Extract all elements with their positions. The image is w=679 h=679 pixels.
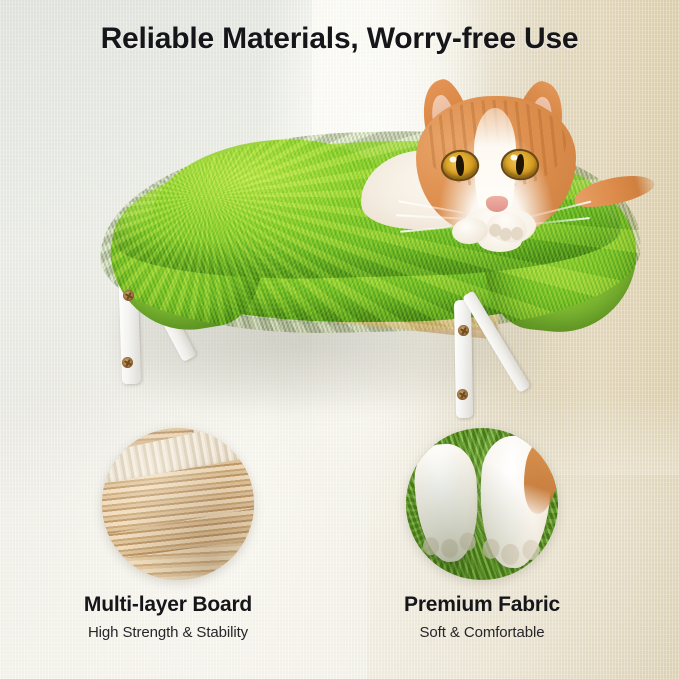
headline: Reliable Materials, Worry-free Use xyxy=(0,22,679,56)
product-feature-image: Reliable Materials, Worry-free Use xyxy=(0,0,679,679)
caption-title-fabric: Premium Fabric xyxy=(332,592,632,618)
caption-title-board: Multi-layer Board xyxy=(18,592,318,618)
caption-subtitle-board: High Strength & Stability xyxy=(18,624,318,641)
plywood-shading xyxy=(102,428,254,580)
fabric-closeup-shading xyxy=(406,428,558,580)
cat-toe-3 xyxy=(510,226,524,241)
caption-subtitle-fabric: Soft & Comfortable xyxy=(332,624,632,641)
caption-premium-fabric: Premium Fabric Soft & Comfortable xyxy=(332,592,632,641)
bracket-left-screw-lower xyxy=(122,357,133,368)
caption-multi-layer-board: Multi-layer Board High Strength & Stabil… xyxy=(18,592,318,641)
feature-image-premium-fabric xyxy=(406,428,558,580)
bracket-right-screw-lower xyxy=(457,389,468,400)
cat-pupil-left xyxy=(455,155,464,177)
cat-tail xyxy=(571,169,657,213)
feature-image-multi-layer-board xyxy=(102,428,254,580)
